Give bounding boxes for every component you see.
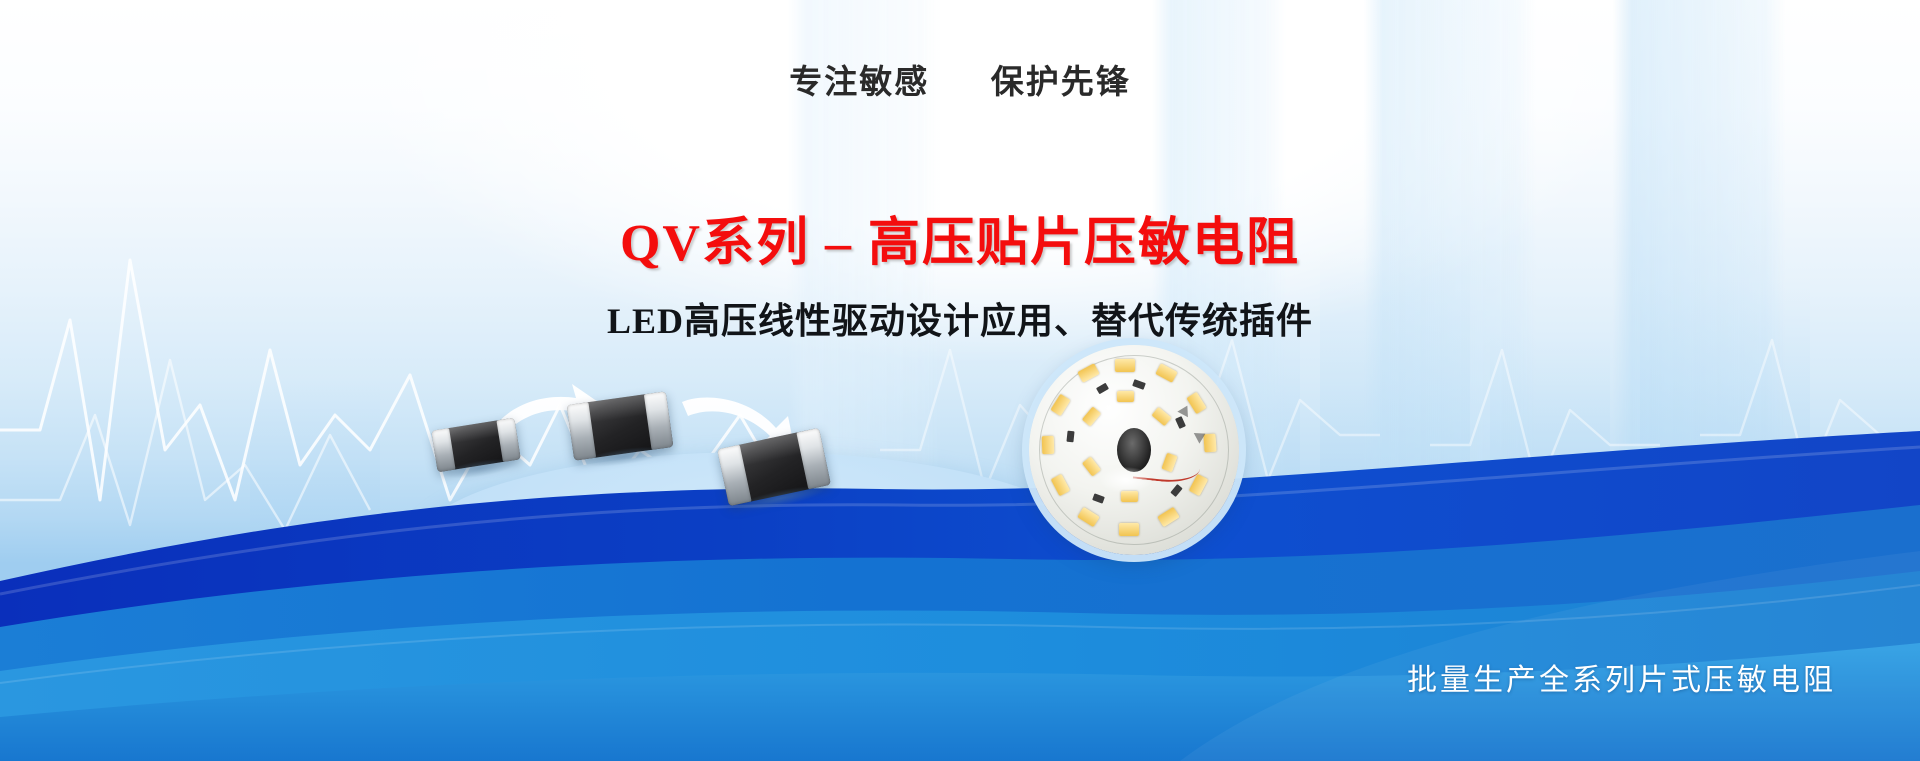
- led-component-dot: [1066, 431, 1074, 443]
- led-module-glare: [1100, 467, 1152, 493]
- promo-banner: 专注敏感 保护先锋 QV系列 – 高压贴片压敏电阻 LED高压线性驱动设计应用、…: [0, 0, 1920, 761]
- led-pad: [1115, 359, 1135, 372]
- led-module-image: [1029, 345, 1239, 555]
- banner-subheadline: LED高压线性驱动设计应用、替代传统插件: [0, 292, 1920, 344]
- led-pad: [1117, 391, 1134, 402]
- led-module-center-hub: [1117, 428, 1151, 472]
- led-pad: [1119, 523, 1139, 536]
- banner-tagline: 专注敏感 保护先锋: [0, 55, 1920, 103]
- led-pad: [1042, 436, 1055, 454]
- banner-headline: QV系列 – 高压贴片压敏电阻: [0, 200, 1920, 275]
- blue-wave-graphic: [0, 431, 1920, 761]
- banner-footnote: 批量生产全系列片式压敏电阻: [1407, 655, 1836, 699]
